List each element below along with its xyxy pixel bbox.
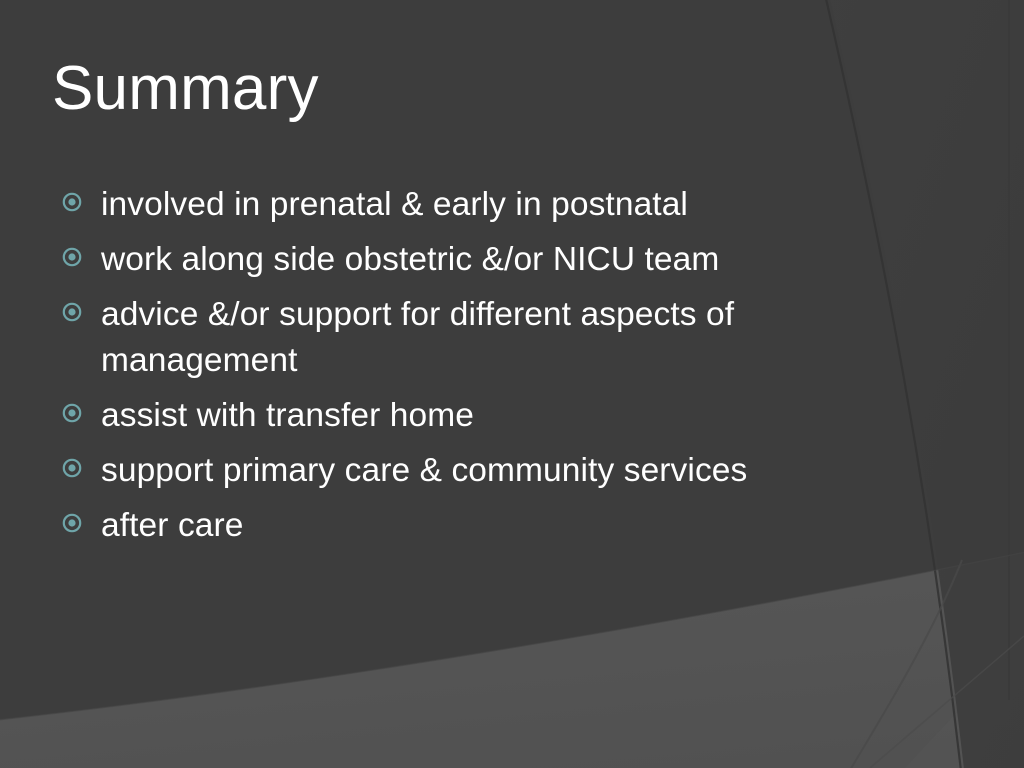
- list-item: involved in prenatal & early in postnata…: [62, 182, 892, 228]
- list-item: assist with transfer home: [62, 393, 892, 439]
- target-circle-icon: [62, 513, 82, 533]
- list-item-label: involved in prenatal & early in postnata…: [101, 182, 892, 228]
- list-item-label: assist with transfer home: [101, 393, 892, 439]
- bottom-diagonal-line: [870, 636, 1024, 768]
- target-circle-icon: [62, 247, 82, 267]
- bottom-right-wedge-shape: [905, 640, 1024, 768]
- arc-line-2: [838, 560, 962, 768]
- list-item-label: work along side obstetric &/or NICU team: [101, 237, 892, 283]
- list-item: advice &/or support for different aspect…: [62, 292, 892, 384]
- title-block: Summary: [52, 56, 912, 122]
- list-item: after care: [62, 503, 892, 549]
- sweep-edge-line: [0, 540, 1024, 726]
- list-item-label: advice &/or support for different aspect…: [101, 292, 892, 384]
- list-item: work along side obstetric &/or NICU team: [62, 237, 892, 283]
- target-circle-icon: [62, 403, 82, 423]
- list-item: support primary care & community service…: [62, 448, 892, 494]
- presentation-slide: Summary involved in prenatal & early in …: [0, 0, 1024, 768]
- list-item-label: support primary care & community service…: [101, 448, 892, 494]
- bottom-sweep-shape: [0, 540, 1024, 768]
- bullet-list: involved in prenatal & early in postnata…: [62, 182, 892, 549]
- target-circle-icon: [62, 302, 82, 322]
- target-circle-icon: [62, 192, 82, 212]
- page-title: Summary: [52, 56, 912, 122]
- list-item-label: after care: [101, 503, 892, 549]
- target-circle-icon: [62, 458, 82, 478]
